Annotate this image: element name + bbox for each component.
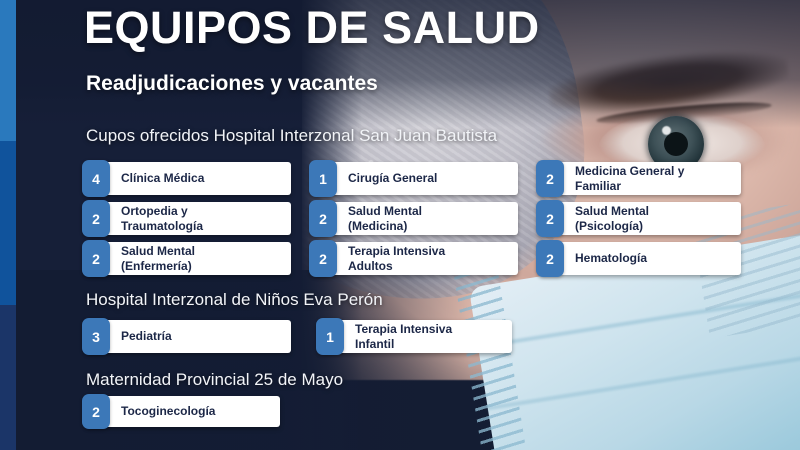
accent-segment-top bbox=[0, 0, 16, 141]
vacancy-specialty-label: Clínica Médica bbox=[110, 162, 291, 195]
vacancy-specialty-label: Cirugía General bbox=[337, 162, 518, 195]
vacancy-specialty-label: Salud Mental (Enfermería) bbox=[110, 242, 291, 275]
vacancy-row-salud-mental-enfermeria: 2Salud Mental (Enfermería) bbox=[86, 242, 291, 275]
vacancy-specialty-label: Medicina General y Familiar bbox=[564, 162, 741, 195]
vacancy-count-badge: 1 bbox=[316, 318, 344, 355]
vacancy-count-badge: 2 bbox=[82, 240, 110, 277]
section-heading-hospital-eva-peron: Hospital Interzonal de Niños Eva Perón bbox=[86, 290, 383, 310]
photo-pupil bbox=[664, 132, 688, 156]
vacancy-specialty-label: Hematología bbox=[564, 242, 741, 275]
vacancy-row-clinica-medica: 4Clínica Médica bbox=[86, 162, 291, 195]
vacancy-row-terapia-intensiva-infantil: 1Terapia Intensiva Infantil bbox=[320, 320, 512, 353]
vacancy-count-badge: 2 bbox=[536, 240, 564, 277]
vacancy-count-badge: 2 bbox=[82, 200, 110, 237]
left-accent-bar bbox=[0, 0, 16, 450]
vacancy-specialty-label: Salud Mental (Psicología) bbox=[564, 202, 741, 235]
vacancy-row-pediatria: 3Pediatría bbox=[86, 320, 291, 353]
vacancy-row-tocoginecologia: 2Tocoginecología bbox=[86, 396, 280, 427]
vacancy-row-salud-mental-medicina: 2Salud Mental (Medicina) bbox=[313, 202, 518, 235]
poster-title: EQUIPOS DE SALUD bbox=[84, 4, 540, 51]
vacancy-count-badge: 2 bbox=[309, 240, 337, 277]
vacancy-row-ortopedia-y-traumatologia: 2Ortopedia y Traumatología bbox=[86, 202, 291, 235]
vacancy-count-badge: 4 bbox=[82, 160, 110, 197]
vacancy-count-badge: 2 bbox=[82, 394, 110, 429]
vacancy-row-cirugia-general: 1Cirugía General bbox=[313, 162, 518, 195]
vacancy-specialty-label: Salud Mental (Medicina) bbox=[337, 202, 518, 235]
vacancy-count-badge: 2 bbox=[536, 200, 564, 237]
vacancy-row-medicina-general-y-familiar: 2Medicina General y Familiar bbox=[540, 162, 741, 195]
vacancy-count-badge: 2 bbox=[309, 200, 337, 237]
vacancy-specialty-label: Terapia Intensiva Adultos bbox=[337, 242, 518, 275]
vacancy-count-badge: 2 bbox=[536, 160, 564, 197]
vacancy-specialty-label: Terapia Intensiva Infantil bbox=[344, 320, 512, 353]
vacancy-specialty-label: Ortopedia y Traumatología bbox=[110, 202, 291, 235]
vacancy-count-badge: 3 bbox=[82, 318, 110, 355]
vacancy-row-salud-mental-psicologia: 2Salud Mental (Psicología) bbox=[540, 202, 741, 235]
vacancy-row-terapia-intensiva-adultos: 2Terapia Intensiva Adultos bbox=[313, 242, 518, 275]
accent-segment-bottom bbox=[0, 305, 16, 450]
vacancy-row-hematologia: 2Hematología bbox=[540, 242, 741, 275]
section-heading-maternidad-25-de-mayo: Maternidad Provincial 25 de Mayo bbox=[86, 370, 343, 390]
vacancy-specialty-label: Pediatría bbox=[110, 320, 291, 353]
accent-segment-middle bbox=[0, 141, 16, 305]
vacancy-specialty-label: Tocoginecología bbox=[110, 396, 280, 427]
vacancy-count-badge: 1 bbox=[309, 160, 337, 197]
section-heading-hospital-san-juan-bautista: Cupos ofrecidos Hospital Interzonal San … bbox=[86, 126, 497, 146]
poster-subtitle: Readjudicaciones y vacantes bbox=[86, 72, 378, 96]
